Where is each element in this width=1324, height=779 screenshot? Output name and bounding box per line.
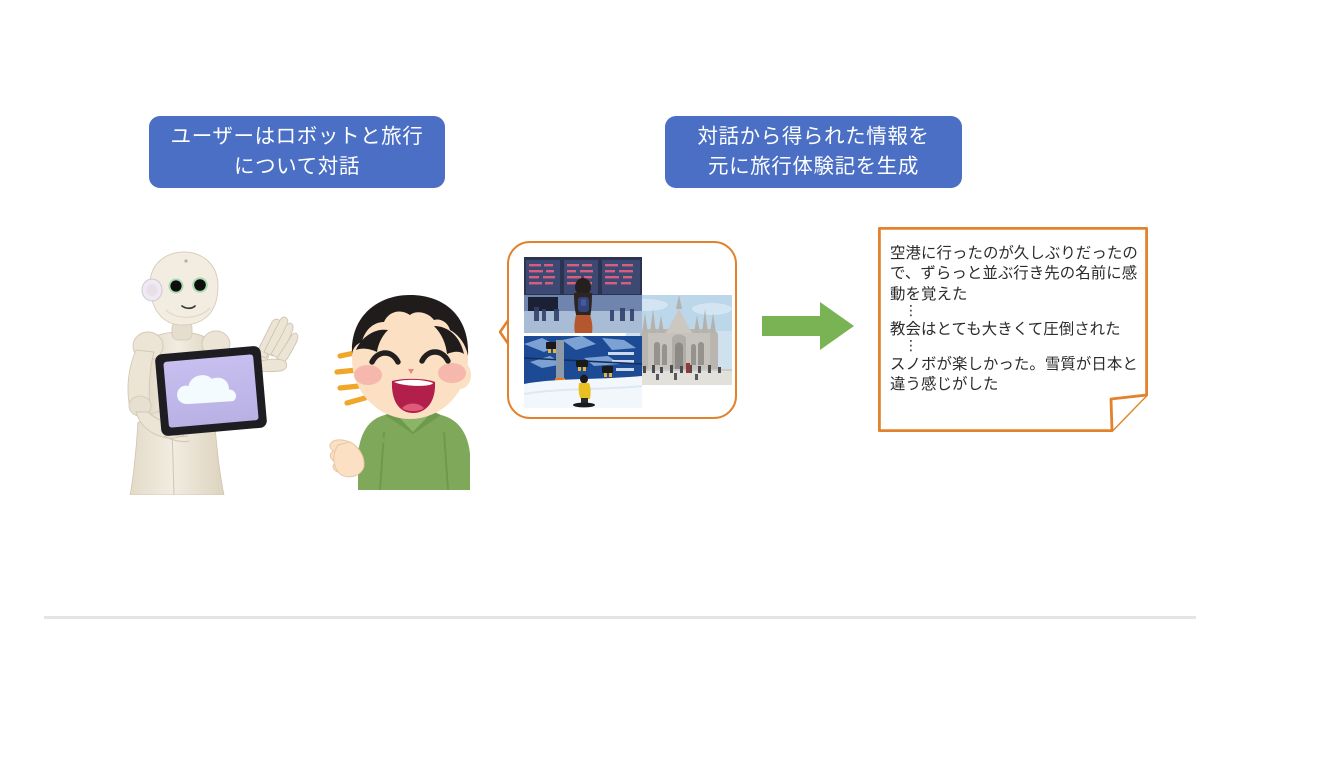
footer-divider	[44, 616, 1196, 619]
banner-generate-travel-journal: 対話から得られた情報を 元に旅行体験記を生成	[665, 116, 962, 188]
photo-ski-slope-snowboarder	[524, 336, 642, 408]
note-ellipsis-1: ⋮	[904, 304, 1138, 319]
photo-speech-bubble	[499, 241, 737, 419]
slide-canvas: ユーザーはロボットと旅行 について対話 対話から得られた情報を 元に旅行体験記を…	[0, 0, 1324, 779]
pepper-robot-figure	[96, 250, 308, 495]
banner-user-robot-dialogue: ユーザーはロボットと旅行 について対話	[149, 116, 445, 188]
pepper-robot-icon	[96, 250, 308, 495]
green-arrow-icon	[762, 300, 854, 352]
travel-journal-note: 空港に行ったのが久しぶりだったので、ずらっと並ぶ行き先の名前に感動を覚えた ⋮ …	[878, 227, 1148, 432]
note-paragraph-3: スノボが楽しかった。雪質が日本と違う感じがした	[890, 354, 1138, 395]
photo-airport-departure-board	[524, 257, 642, 333]
arrow-right-icon	[762, 300, 854, 352]
airport-photo-art	[524, 257, 642, 333]
note-ellipsis-2: ⋮	[904, 339, 1138, 354]
note-paragraph-2: 教会はとても大きくて圧倒された	[890, 319, 1138, 339]
robot-chest-tablet	[155, 346, 268, 437]
smiling-boy-icon	[322, 282, 497, 490]
note-text-block: 空港に行ったのが久しぶりだったので、ずらっと並ぶ行き先の名前に感動を覚えた ⋮ …	[890, 243, 1138, 394]
note-paragraph-1: 空港に行ったのが久しぶりだったので、ずらっと並ぶ行き先の名前に感動を覚えた	[890, 243, 1138, 304]
ski-photo-art	[524, 336, 642, 408]
smiling-boy-figure	[322, 282, 497, 490]
speech-bubble-body	[507, 241, 737, 419]
